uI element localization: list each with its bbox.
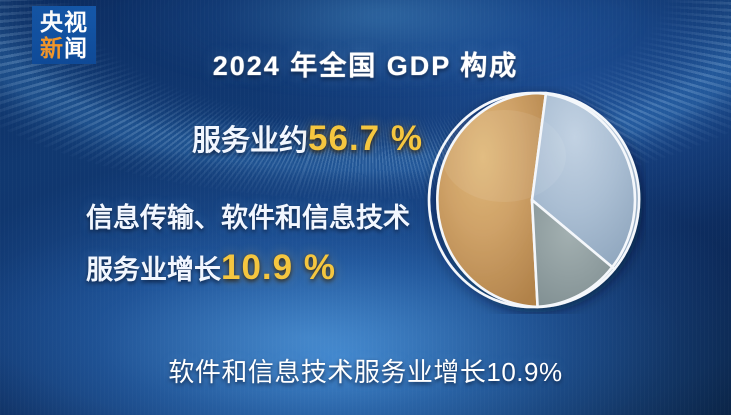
stat-it-services-label-line1: 信息传输、软件和信息技术 [86, 203, 410, 233]
stat-services-value: 56.7 % [308, 119, 423, 158]
pie-chart-svg [424, 86, 646, 314]
pie-specular-highlight [442, 110, 566, 202]
stat-it-services-label-text: 信息传输、软件和信息技术 [86, 203, 410, 233]
logo-line-1: 央视 [40, 11, 88, 34]
stat-it-services-label-line2: 服务业增长 [86, 255, 221, 285]
stat-services-label: 服务业约 [192, 125, 308, 157]
page-title: 2024 年全国 GDP 构成 [0, 44, 731, 83]
stat-services-share: 服务业约56.7 % [192, 119, 423, 158]
broadcast-graphic: 央视 新闻 2024 年全国 GDP 构成 [0, 0, 731, 415]
stat-it-services-value: 10.9 % [221, 248, 336, 287]
lower-third-caption: 软件和信息技术服务业增长10.9% [0, 352, 731, 389]
gdp-composition-pie-chart [424, 86, 646, 314]
stat-it-services-growth: 服务业增长10.9 % [86, 248, 336, 287]
